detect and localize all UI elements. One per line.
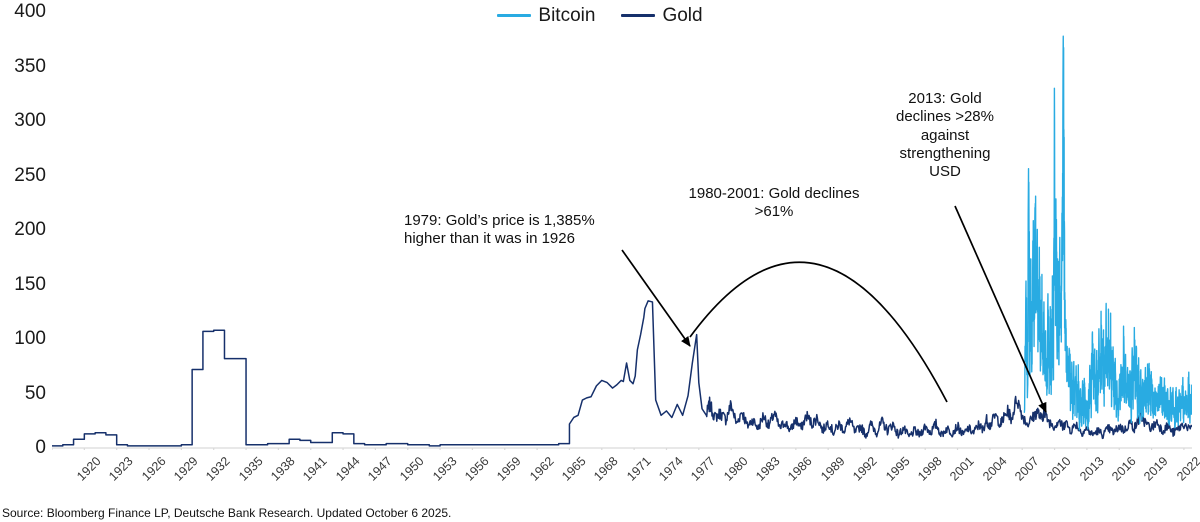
annotation-1980-2001-decline: 1980-2001: Gold declines >61% xyxy=(668,185,880,222)
y-axis-tick-label: 150 xyxy=(0,274,46,296)
x-axis-tick-label: 2016 xyxy=(1109,454,1139,484)
annotation-1979-gold-price: 1979: Gold’s price is 1,385% higher than… xyxy=(404,212,632,249)
x-axis-tick-label: 2019 xyxy=(1141,454,1171,484)
x-axis-tick-label: 1989 xyxy=(818,454,848,484)
annotation-2013-decline: 2013: Gold declines >28% against strengt… xyxy=(882,90,1008,181)
x-axis-tick-label: 2001 xyxy=(947,454,977,484)
y-axis-tick-label: 300 xyxy=(0,110,46,132)
x-axis-tick-label: 1941 xyxy=(301,454,331,484)
x-axis-tick-label: 1932 xyxy=(204,454,234,484)
x-axis-tick-label: 1983 xyxy=(753,454,783,484)
y-axis-tick-label: 350 xyxy=(0,56,46,78)
x-axis-tick-label: 2007 xyxy=(1012,454,1042,484)
y-axis-tick-label: 50 xyxy=(0,383,46,405)
annotation-arrow-1980-2001 xyxy=(690,262,947,402)
x-axis-tick-label: 2004 xyxy=(980,454,1010,484)
x-axis-tick-label: 1995 xyxy=(883,454,913,484)
annotation-arrow-1979 xyxy=(622,250,690,346)
y-axis: 050100150200250300350400 xyxy=(0,0,46,470)
y-axis-tick-label: 0 xyxy=(0,437,46,459)
x-axis-tick-label: 1965 xyxy=(559,454,589,484)
x-axis-tick-label: 1992 xyxy=(850,454,880,484)
x-axis-tick-label: 2010 xyxy=(1044,454,1074,484)
x-axis-tick-label: 1971 xyxy=(624,454,654,484)
x-axis-tick-label: 1923 xyxy=(106,454,136,484)
x-axis-tick-label: 1944 xyxy=(333,454,363,484)
x-axis-tick-label: 1962 xyxy=(527,454,557,484)
x-axis: 1920192319261929193219351938194119441947… xyxy=(52,450,1192,502)
x-axis-tick-label: 1938 xyxy=(268,454,298,484)
x-axis-tick-label: 1986 xyxy=(786,454,816,484)
x-axis-tick-label: 1920 xyxy=(74,454,104,484)
x-axis-tick-label: 1935 xyxy=(236,454,266,484)
x-axis-tick-label: 2013 xyxy=(1077,454,1107,484)
x-axis-tick-label: 1950 xyxy=(398,454,428,484)
x-axis-tick-label: 1926 xyxy=(139,454,169,484)
x-axis-tick-label: 1977 xyxy=(689,454,719,484)
series-line-gold xyxy=(52,301,1192,446)
x-axis-tick-label: 1947 xyxy=(365,454,395,484)
x-axis-tick-label: 1953 xyxy=(430,454,460,484)
y-axis-tick-label: 100 xyxy=(0,328,46,350)
x-axis-tick-label: 1998 xyxy=(915,454,945,484)
y-axis-tick-label: 250 xyxy=(0,165,46,187)
x-axis-tick-label: 1968 xyxy=(592,454,622,484)
x-axis-tick-label: 1974 xyxy=(656,454,686,484)
chart-root: Bitcoin Gold 050100150200250300350400 19… xyxy=(0,0,1200,522)
x-axis-tick-label: 2022 xyxy=(1174,454,1200,484)
x-axis-tick-label: 1959 xyxy=(495,454,525,484)
source-note: Source: Bloomberg Finance LP, Deutsche B… xyxy=(2,506,451,520)
y-axis-tick-label: 200 xyxy=(0,219,46,241)
series-line-bitcoin xyxy=(1024,36,1192,430)
y-axis-tick-label: 400 xyxy=(0,1,46,23)
x-axis-tick-label: 1980 xyxy=(721,454,751,484)
x-axis-tick-label: 1956 xyxy=(462,454,492,484)
x-axis-tick-label: 1929 xyxy=(171,454,201,484)
